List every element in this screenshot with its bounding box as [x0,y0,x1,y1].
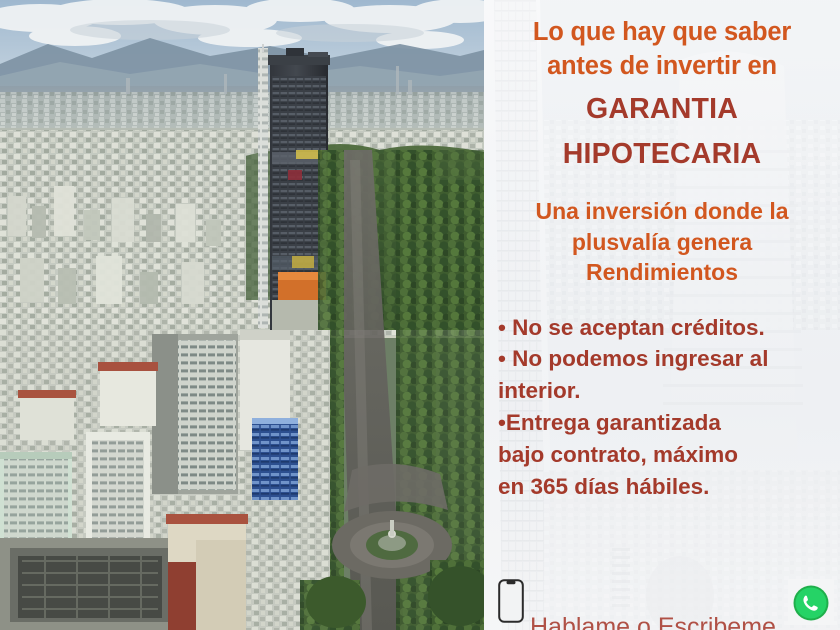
promotional-poster: Lo que hay que saber antes de invertir e… [0,0,840,630]
bullet-list: • No se aceptan créditos. • No podemos i… [494,312,830,504]
headline-line-4-hipotecaria: HIPOTECARIA [494,135,830,174]
bullet-line: bajo contrato, máximo [498,439,830,471]
headline-line-3-garantia: GARANTIA [494,90,830,129]
whatsapp-icon[interactable] [788,579,834,630]
bullet-line: • No se aceptan créditos. [498,312,830,344]
offer-text-panel: Lo que hay que saber antes de invertir e… [484,0,840,630]
contact-strip: Hablame o Escribeme [484,582,840,630]
smartphone-icon [498,579,524,628]
subheadline-line-2: plusvalía genera [494,227,830,257]
cityscape-photo-image [0,0,484,630]
bullet-line: interior. [498,375,830,407]
bullet-line: •Entrega garantizada [498,407,830,439]
subheadline-line-1: Una inversión donde la [494,196,830,226]
cityscape-photo [0,0,484,630]
bullet-line: • No podemos ingresar al [498,343,830,375]
subheadline-line-3: Rendimientos [494,257,830,287]
headline-line-2: antes de invertir en [494,50,830,84]
panel-content: Lo que hay que saber antes de invertir e… [484,0,840,630]
headline-block: Lo que hay que saber antes de invertir e… [494,16,830,174]
subheadline-block: Una inversión donde la plusvalía genera … [494,196,830,287]
headline-line-1: Lo que hay que saber [494,16,830,50]
bullet-line: en 365 días hábiles. [498,471,830,503]
contact-text: Hablame o Escribeme [524,615,788,630]
